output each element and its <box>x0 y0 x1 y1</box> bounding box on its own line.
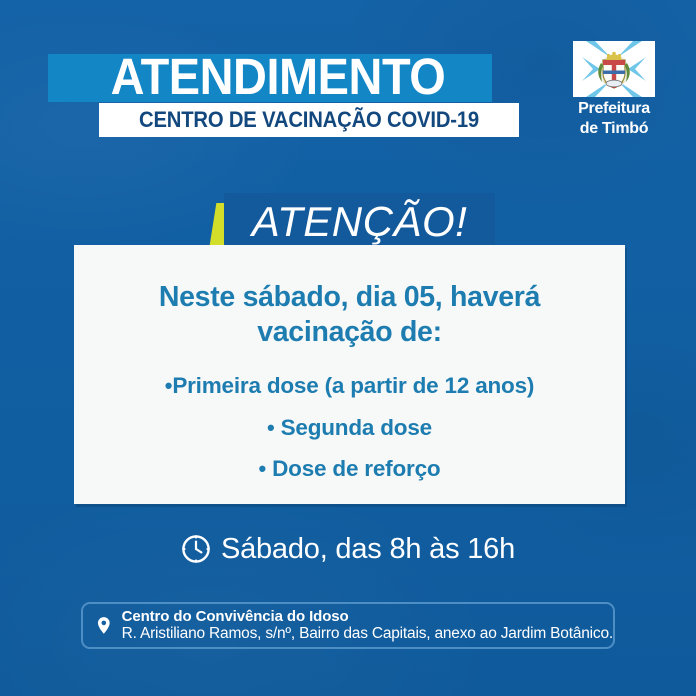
bullet-dot-icon: • <box>259 456 267 481</box>
card-heading: Neste sábado, dia 05, haverá vacinação d… <box>108 280 591 350</box>
logo-caption: Prefeitura de Timbó <box>567 99 661 139</box>
prefeitura-logo: Prefeitura de Timbó <box>567 41 661 146</box>
location-street: R. Aristiliano Ramos, s/nº, Bairro das C… <box>122 625 613 643</box>
logo-caption-line1: Prefeitura <box>567 99 661 119</box>
list-item: •Primeira dose (a partir de 12 anos) <box>74 375 625 398</box>
bullet-dot-icon: • <box>267 415 275 440</box>
timbo-flag-icon <box>573 41 655 97</box>
schedule-text: Sábado, das 8h às 16h <box>221 533 515 566</box>
location-box: Centro do Convivência do Idoso R. Aristi… <box>81 602 615 649</box>
announcement-card: Neste sábado, dia 05, haverá vacinação d… <box>74 245 625 504</box>
logo-caption-line2: de Timbó <box>567 119 661 139</box>
list-item-label: Segunda dose <box>281 415 432 440</box>
list-item-label: Primeira dose (a partir de 12 anos) <box>172 373 534 398</box>
map-pin-icon <box>97 612 111 639</box>
page-subtitle: CENTRO DE VACINAÇÃO COVID-19 <box>120 103 498 137</box>
schedule-row: Sábado, das 8h às 16h <box>0 528 696 570</box>
attention-label: ATENÇÃO! <box>224 193 495 250</box>
list-item: • Dose de reforço <box>74 458 625 481</box>
list-item-label: Dose de reforço <box>272 456 440 481</box>
location-name: Centro do Convivência do Idoso <box>122 608 613 626</box>
page-title: ATENDIMENTO <box>76 44 481 108</box>
location-text: Centro do Convivência do Idoso R. Aristi… <box>122 608 613 644</box>
dose-list: •Primeira dose (a partir de 12 anos) • S… <box>74 375 625 481</box>
poster-background: ATENDIMENTO CENTRO DE VACINAÇÃO COVID-19 <box>0 0 696 696</box>
clock-icon <box>181 534 211 564</box>
list-item: • Segunda dose <box>74 417 625 440</box>
